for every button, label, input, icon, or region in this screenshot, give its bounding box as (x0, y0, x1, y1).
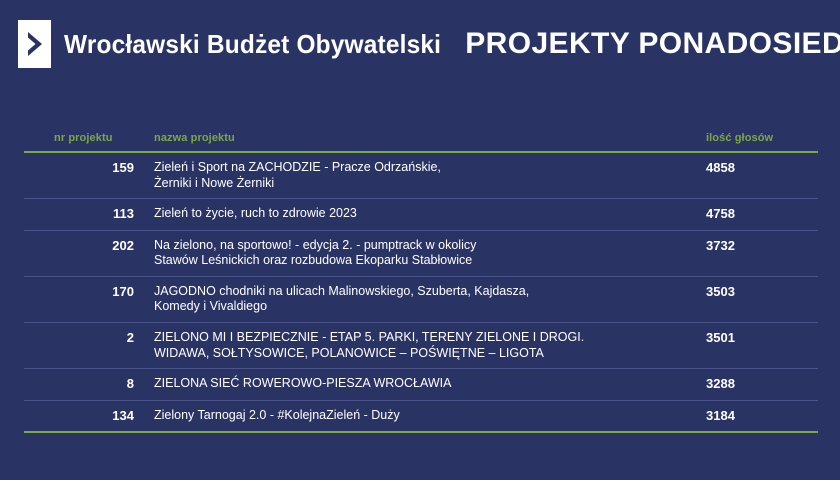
table-row: 2 ZIELONO MI I BEZPIECZNIE - ETAP 5. PAR… (24, 323, 818, 369)
column-header-vote-count: ilość głosów (688, 132, 818, 152)
cell-vote-count: 4758 (688, 199, 818, 230)
cell-vote-count: 3184 (688, 400, 818, 432)
table-header-row: nr projektu nazwa projektu ilość głosów (24, 132, 818, 152)
cell-project-number: 159 (24, 152, 136, 199)
cell-project-number: 8 (24, 369, 136, 400)
cell-project-name: ZIELONA SIEĆ ROWEROWO-PIESZA WROCŁAWIA (136, 369, 688, 400)
cell-vote-count: 3503 (688, 276, 818, 322)
cell-project-name: Zielony Tarnogaj 2.0 - #KolejnaZieleń - … (136, 400, 688, 432)
table-body: 159 Zieleń i Sport na ZACHODZIE - Pracze… (24, 152, 818, 432)
column-header-project-number: nr projektu (24, 132, 136, 152)
table-head: nr projektu nazwa projektu ilość głosów (24, 132, 818, 152)
cell-project-name: Zieleń to życie, ruch to zdrowie 2023 (136, 199, 688, 230)
table-row: 8 ZIELONA SIEĆ ROWEROWO-PIESZA WROCŁAWIA… (24, 369, 818, 400)
cell-project-name: JAGODNO chodniki na ulicach Malinowskieg… (136, 276, 688, 322)
cell-project-number: 134 (24, 400, 136, 432)
table-row: 159 Zieleń i Sport na ZACHODZIE - Pracze… (24, 152, 818, 199)
page-header: Wrocławski Budżet Obywatelski PROJEKTY P… (0, 0, 840, 88)
cell-project-number: 2 (24, 323, 136, 369)
table-row: 170 JAGODNO chodniki na ulicach Malinows… (24, 276, 818, 322)
cell-project-number: 170 (24, 276, 136, 322)
cell-project-name: Zieleń i Sport na ZACHODZIE - Pracze Odr… (136, 152, 688, 199)
column-header-project-name: nazwa projektu (136, 132, 688, 152)
cell-vote-count: 4858 (688, 152, 818, 199)
brand-name: Wrocławski Budżet Obywatelski (64, 29, 441, 60)
cell-vote-count: 3288 (688, 369, 818, 400)
projects-table-container: nr projektu nazwa projektu ilość głosów … (0, 132, 840, 433)
cell-vote-count: 3732 (688, 230, 818, 276)
table-row: 113 Zieleń to życie, ruch to zdrowie 202… (24, 199, 818, 230)
cell-project-number: 202 (24, 230, 136, 276)
table-row: 134 Zielony Tarnogaj 2.0 - #KolejnaZiele… (24, 400, 818, 432)
cell-project-name: ZIELONO MI I BEZPIECZNIE - ETAP 5. PARKI… (136, 323, 688, 369)
cell-vote-count: 3501 (688, 323, 818, 369)
table-row: 202 Na zielono, na sportowo! - edycja 2.… (24, 230, 818, 276)
chevron-right-icon (18, 20, 51, 68)
page-title: PROJEKTY PONADOSIEDLOWE (465, 27, 840, 61)
cell-project-name: Na zielono, na sportowo! - edycja 2. - p… (136, 230, 688, 276)
projects-table: nr projektu nazwa projektu ilość głosów … (24, 132, 818, 433)
cell-project-number: 113 (24, 199, 136, 230)
brand-lockup: Wrocławski Budżet Obywatelski (18, 20, 465, 68)
